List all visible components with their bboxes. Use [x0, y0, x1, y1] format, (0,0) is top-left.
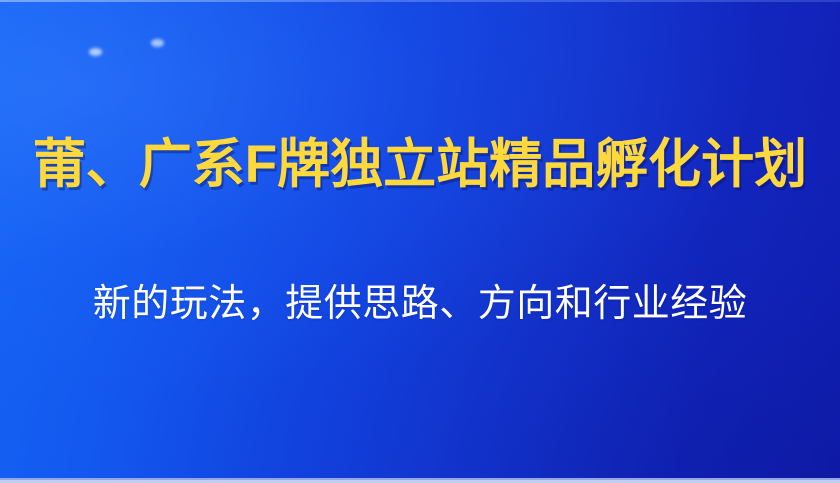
banner-subtitle: 新的玩法，提供思路、方向和行业经验	[0, 278, 840, 330]
banner-title: 莆、广系F牌独立站精品孵化计划	[0, 133, 840, 197]
banner-content: 莆、广系F牌独立站精品孵化计划 新的玩法，提供思路、方向和行业经验	[0, 0, 840, 483]
promo-banner: 莆、广系F牌独立站精品孵化计划 新的玩法，提供思路、方向和行业经验	[0, 0, 840, 483]
